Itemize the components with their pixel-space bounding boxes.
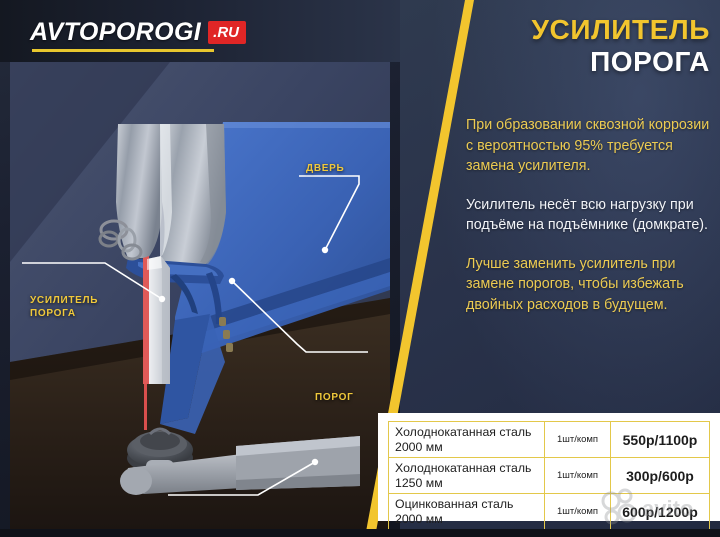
brand-underline	[32, 49, 214, 52]
cell-material: Холоднокатанная сталь 2000 мм	[389, 422, 545, 458]
callout-label-sill: ПОРОГ	[315, 392, 353, 405]
table-row: Оцинкованная сталь 2000 мм 1шт/комп 600р…	[389, 494, 710, 530]
page-title-line-1: УСИЛИТЕЛЬ	[470, 14, 710, 46]
brand-name-text: AVTOPOROGI	[30, 20, 201, 45]
cell-quantity: 1шт/комп	[545, 458, 611, 494]
cell-quantity: 1шт/комп	[545, 422, 611, 458]
cell-material: Оцинкованная сталь 2000 мм	[389, 494, 545, 530]
sill-cross-section-diagram: ДВЕРЬ УСИЛИТЕЛЬ ПОРОГА ПОРОГ ПОДЪЁМНИК	[10, 62, 390, 530]
bottom-edge-strip	[0, 529, 720, 537]
callout-label-door: ДВЕРЬ	[306, 163, 344, 176]
info-paragraphs: При образовании сквозной коррозии с веро…	[466, 115, 716, 334]
page-title-line-2: ПОРОГА	[470, 46, 710, 78]
cell-quantity: 1шт/комп	[545, 494, 611, 530]
cell-price: 600р/1200р	[611, 494, 710, 530]
brand-tld-badge: .RU	[208, 21, 246, 44]
price-table-panel: Холоднокатанная сталь 2000 мм 1шт/комп 5…	[378, 413, 720, 521]
paragraph-replace-advice: Лучше заменить усилитель при замене поро…	[466, 254, 716, 316]
poster-root: ДВЕРЬ УСИЛИТЕЛЬ ПОРОГА ПОРОГ ПОДЪЁМНИК A…	[0, 0, 720, 537]
cell-material: Холоднокатанная сталь 1250 мм	[389, 458, 545, 494]
table-row: Холоднокатанная сталь 1250 мм 1шт/комп 3…	[389, 458, 710, 494]
price-table: Холоднокатанная сталь 2000 мм 1шт/комп 5…	[388, 421, 710, 530]
page-title: УСИЛИТЕЛЬ ПОРОГА	[470, 14, 710, 79]
table-row: Холоднокатанная сталь 2000 мм 1шт/комп 5…	[389, 422, 710, 458]
cell-price: 550р/1100р	[611, 422, 710, 458]
callout-label-reinforcer: УСИЛИТЕЛЬ ПОРОГА	[30, 295, 98, 320]
cell-price: 300р/600р	[611, 458, 710, 494]
paragraph-corrosion: При образовании сквозной коррозии с веро…	[466, 115, 716, 177]
brand-logo[interactable]: AVTOPOROGI .RU	[30, 20, 246, 45]
paragraph-load: Усилитель несёт всю нагрузку при подъёме…	[466, 195, 716, 236]
